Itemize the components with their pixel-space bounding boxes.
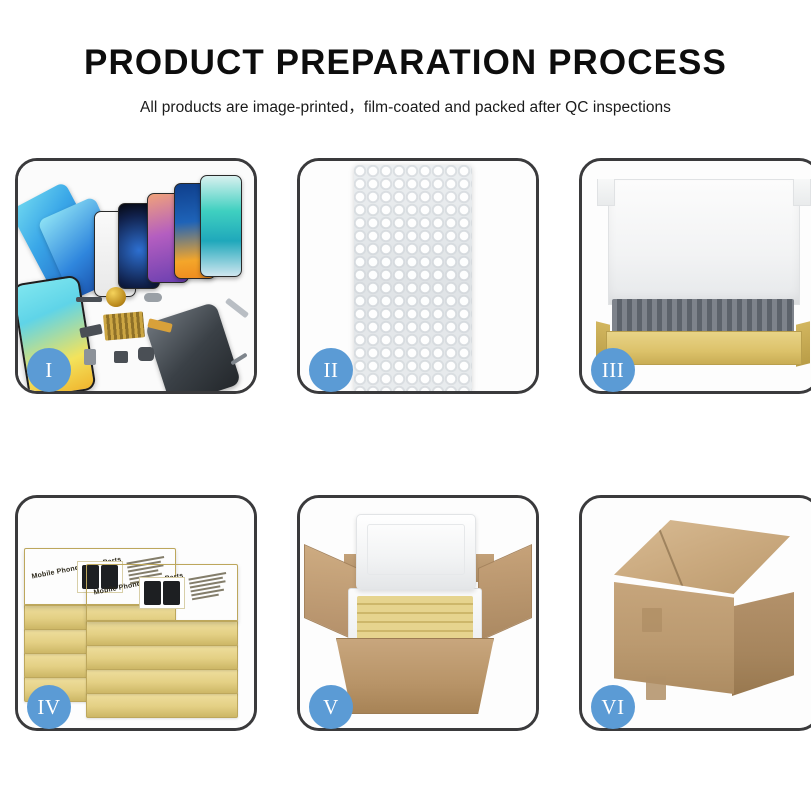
bubble-wrapped-contents-icon [612,299,794,333]
carton-front-wall-icon [336,638,494,714]
speaker-module-icon [106,287,126,307]
step-card-5: V [297,495,539,731]
carton-top-face [614,520,790,594]
spare-part-icon [76,297,102,302]
golden-box-front-icon [606,331,802,365]
step-badge-2: II [309,348,353,392]
step-card-2: II [297,158,539,394]
spare-part-icon [144,293,162,302]
page-header: PRODUCT PREPARATION PROCESS All products… [0,0,811,117]
spare-part-icon [84,349,96,365]
chip-array-icon [103,311,145,340]
retail-box-icon [86,668,238,694]
step-card-1: I [15,158,257,394]
product-thumb [163,581,180,605]
tape-tab-icon [646,676,666,700]
retail-box-spec-lines [188,572,231,600]
step-badge-3: III [591,348,635,392]
retail-box-icon [86,620,238,646]
tape-tab-icon [642,608,662,632]
step-badge-4: IV [27,685,71,729]
phone-display-icon [200,175,242,277]
tweezers-icon [225,298,249,319]
carton-side-face [732,592,794,696]
step-badge-5: V [309,685,353,729]
step-card-4: Mobile Phone Spare Parts Mobile [15,495,257,731]
step-card-3: III [579,158,811,394]
white-box-lid-icon [608,179,800,305]
phone-back-housing-icon [145,302,242,391]
page-title: PRODUCT PREPARATION PROCESS [0,0,811,83]
step-badge-6: VI [591,685,635,729]
sealed-carton-icon [598,520,808,710]
step-badge-1: I [27,348,71,392]
spare-part-icon [114,351,128,363]
retail-box-product-photo [139,577,185,609]
bubble-wrap-icon [354,165,472,391]
spare-part-icon [138,347,154,361]
product-thumb [144,581,161,605]
carton-front-face [614,582,734,694]
retail-box-top-icon: Mobile Phone Spare Parts [86,564,238,622]
step-card-6: VI [579,495,811,731]
foam-lid-icon [356,514,476,590]
page-subtitle: All products are image-printed，film-coat… [0,83,811,117]
carton-seam [658,528,688,597]
retail-box-icon [86,692,238,718]
process-steps-grid: I II III [15,158,796,731]
packed-boxes-rows [357,596,473,642]
screwdriver-icon [230,353,247,366]
phone-display-fan [94,173,244,293]
retail-box-icon [86,644,238,670]
